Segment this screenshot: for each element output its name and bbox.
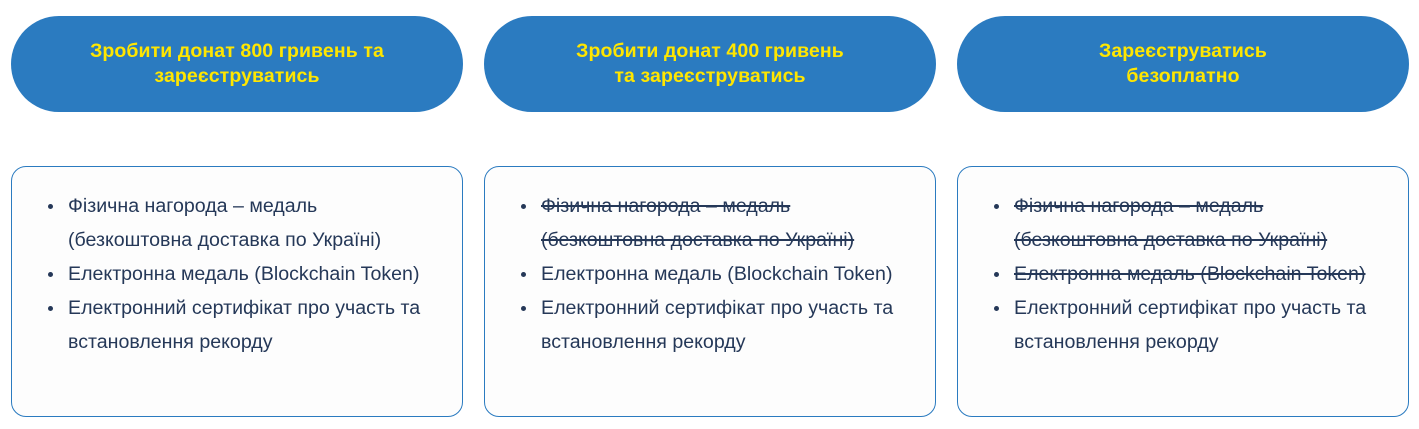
donate-800-button[interactable]: Зробити донат 800 гривень та зареєструва… bbox=[11, 16, 463, 112]
benefits-list-free: Фізична нагорода – медаль (безкоштовна д… bbox=[970, 189, 1390, 359]
tier-column-400: Зробити донат 400 гривень та зареєструва… bbox=[484, 16, 936, 417]
benefit-text: Електронна медаль (Blockchain Token) bbox=[68, 263, 419, 285]
tier-column-800: Зробити донат 800 гривень та зареєструва… bbox=[11, 16, 463, 417]
benefit-item: Електронний сертифікат про участь та вст… bbox=[1014, 291, 1390, 359]
tier-column-free: Зареєструватись безоплатно Фізична нагор… bbox=[957, 16, 1409, 417]
donate-800-button-label: Зробити донат 800 гривень та зареєструва… bbox=[90, 39, 384, 89]
benefits-list-400: Фізична нагорода – медаль (безкоштовна д… bbox=[497, 189, 917, 359]
benefit-item: Фізична нагорода – медаль (безкоштовна д… bbox=[1014, 189, 1390, 257]
benefit-item: Електронна медаль (Blockchain Token) bbox=[541, 257, 917, 291]
donate-400-button-label: Зробити донат 400 гривень та зареєструва… bbox=[576, 39, 844, 89]
benefit-text: Електронний сертифікат про участь та вст… bbox=[68, 297, 420, 353]
benefit-item: Фізична нагорода – медаль (безкоштовна д… bbox=[68, 189, 444, 257]
benefits-list-800: Фізична нагорода – медаль (безкоштовна д… bbox=[24, 189, 444, 359]
benefit-text: Електронний сертифікат про участь та вст… bbox=[541, 297, 893, 353]
benefits-card-400: Фізична нагорода – медаль (безкоштовна д… bbox=[484, 166, 936, 417]
benefit-item: Електронний сертифікат про участь та вст… bbox=[68, 291, 444, 359]
register-free-button[interactable]: Зареєструватись безоплатно bbox=[957, 16, 1409, 112]
benefit-text: Електронний сертифікат про участь та вст… bbox=[1014, 297, 1366, 353]
pricing-tiers-board: Зробити донат 800 гривень та зареєструва… bbox=[0, 0, 1419, 429]
tier-columns: Зробити донат 800 гривень та зареєструва… bbox=[0, 0, 1419, 417]
benefit-item: Фізична нагорода – медаль (безкоштовна д… bbox=[541, 189, 917, 257]
benefit-text: Фізична нагорода – медаль (безкоштовна д… bbox=[68, 195, 381, 251]
benefit-text: Електронна медаль (Blockchain Token) bbox=[541, 263, 892, 285]
benefit-item: Електронний сертифікат про участь та вст… bbox=[541, 291, 917, 359]
donate-400-button[interactable]: Зробити донат 400 гривень та зареєструва… bbox=[484, 16, 936, 112]
benefit-text: Фізична нагорода – медаль (безкоштовна д… bbox=[1014, 195, 1327, 251]
benefit-item: Електронна медаль (Blockchain Token) bbox=[1014, 257, 1390, 291]
benefit-text: Електронна медаль (Blockchain Token) bbox=[1014, 263, 1365, 285]
benefits-card-free: Фізична нагорода – медаль (безкоштовна д… bbox=[957, 166, 1409, 417]
benefit-item: Електронна медаль (Blockchain Token) bbox=[68, 257, 444, 291]
benefits-card-800: Фізична нагорода – медаль (безкоштовна д… bbox=[11, 166, 463, 417]
benefit-text: Фізична нагорода – медаль (безкоштовна д… bbox=[541, 195, 854, 251]
register-free-button-label: Зареєструватись безоплатно bbox=[1099, 39, 1267, 89]
